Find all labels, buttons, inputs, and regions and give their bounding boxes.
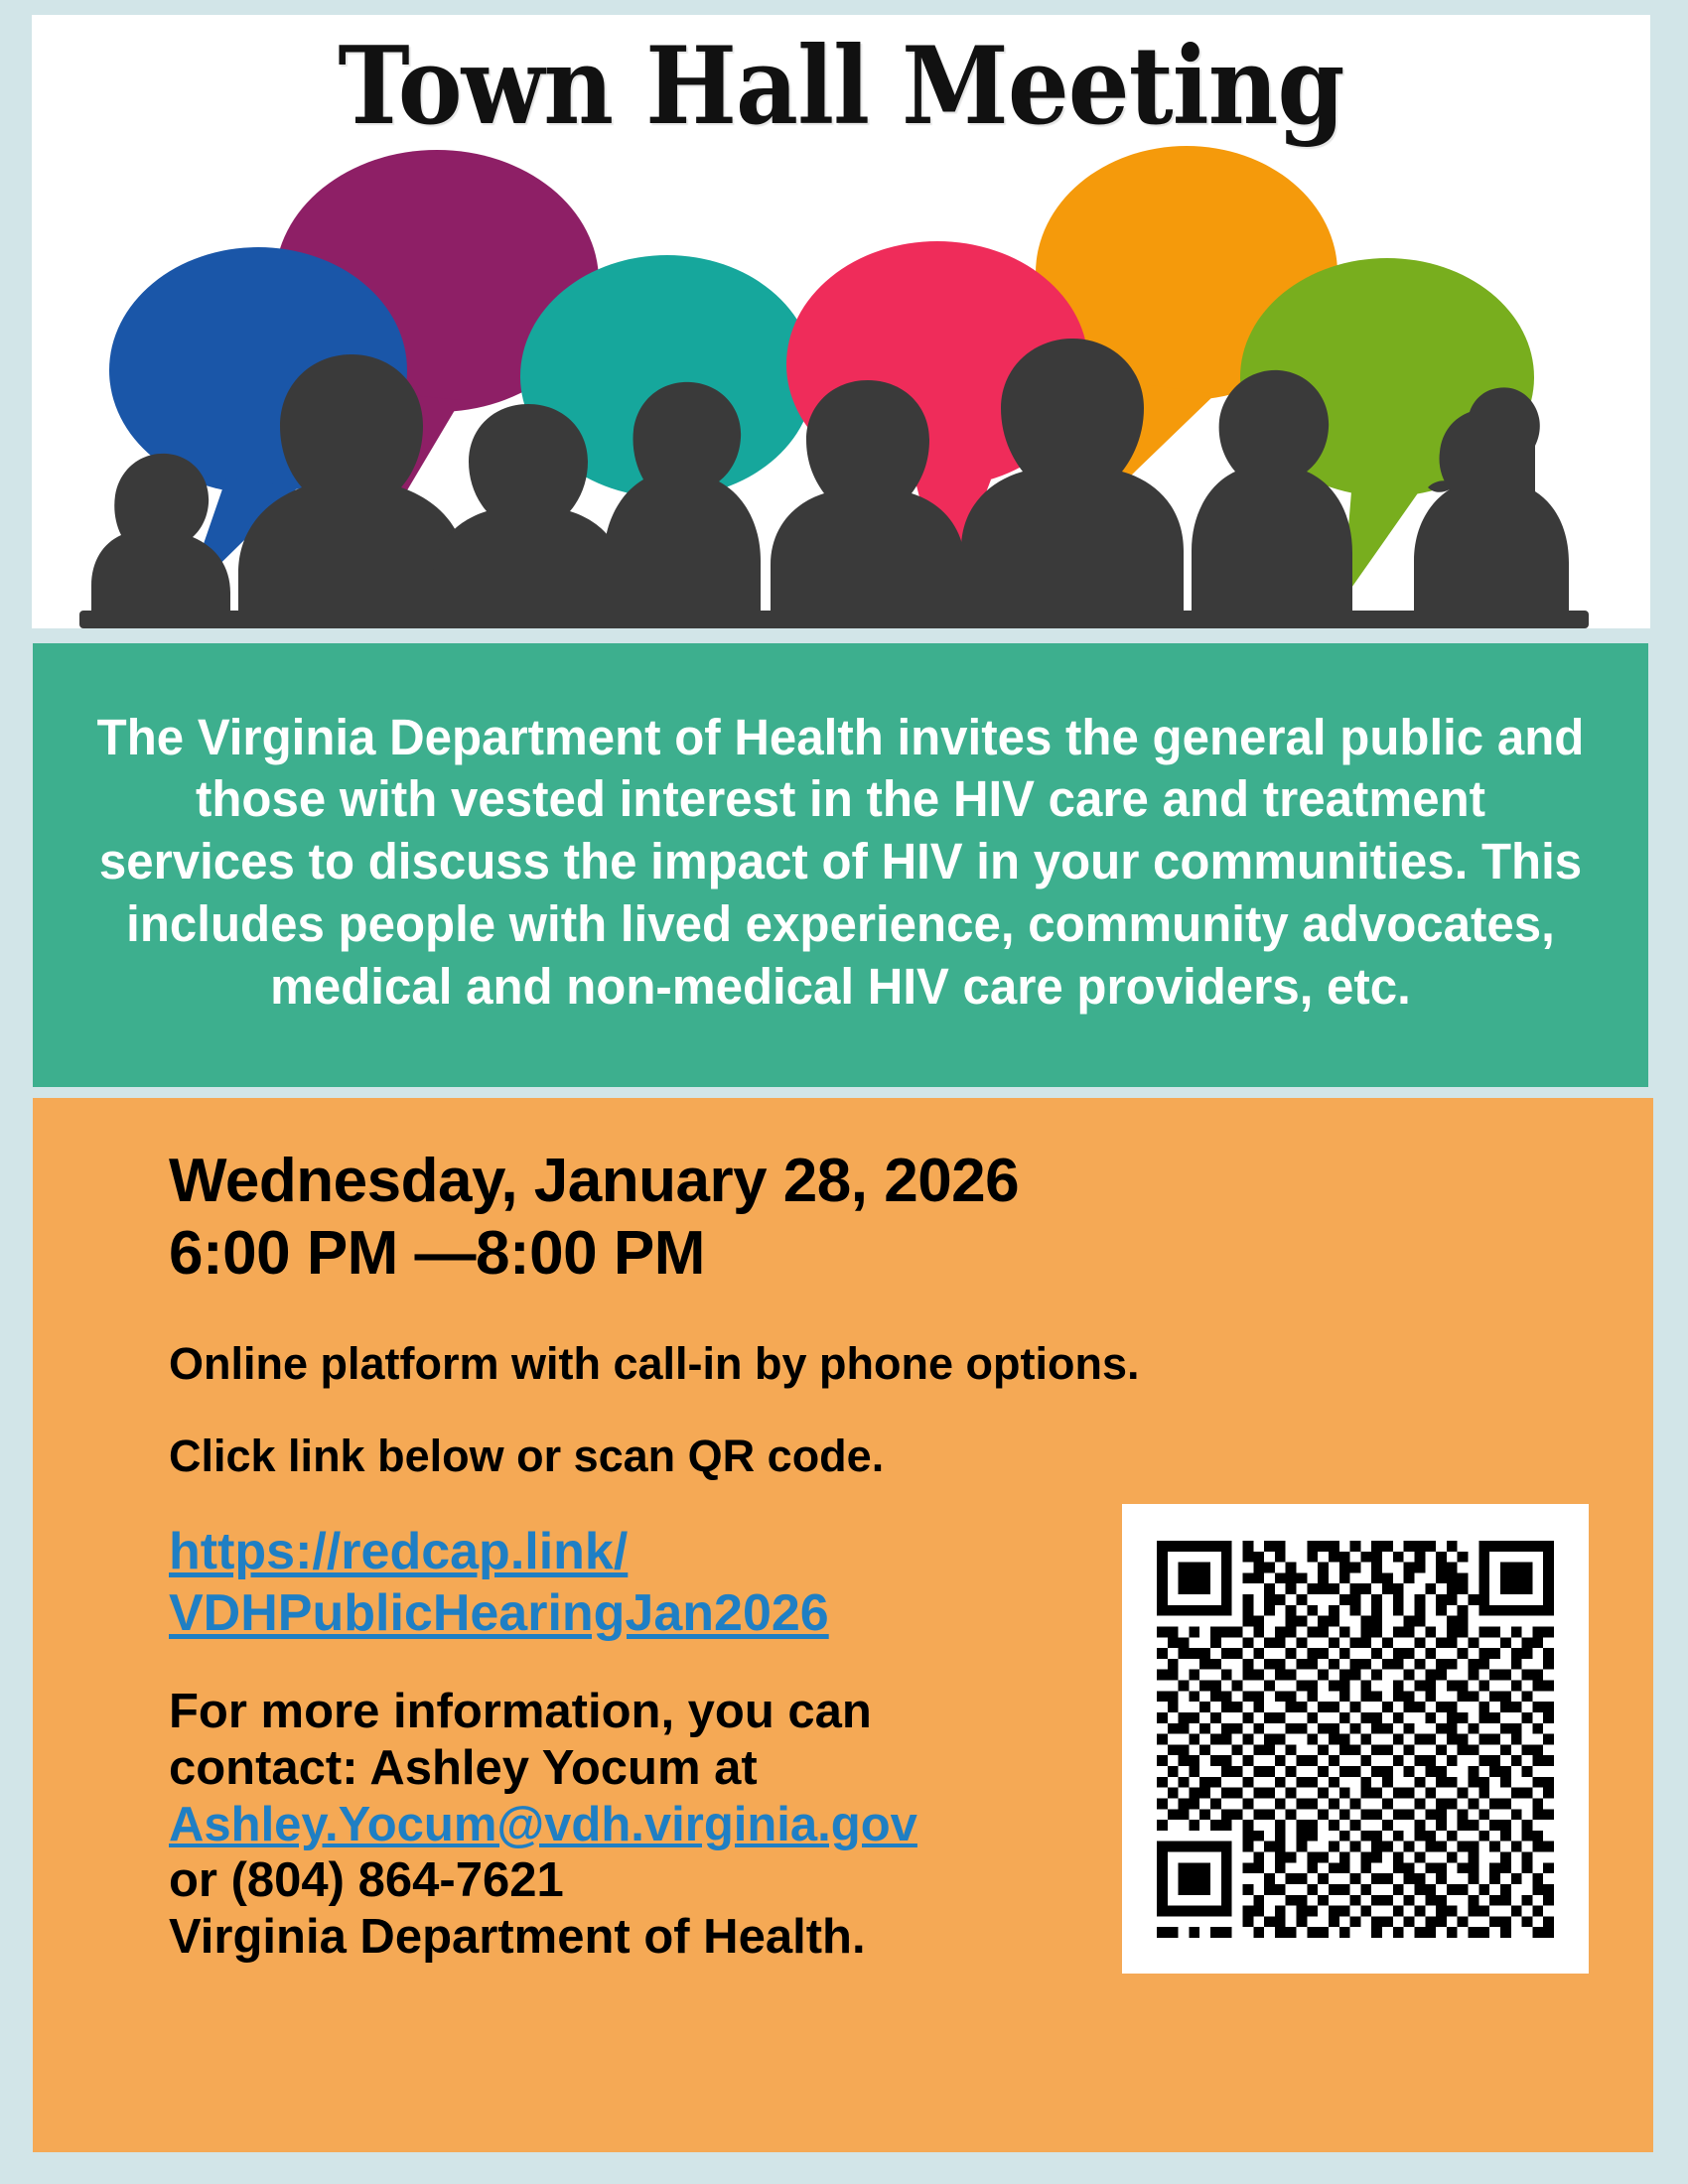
platform-note: Online platform with call-in by phone op…: [169, 1337, 1162, 1390]
contact-organization: Virginia Department of Health.: [169, 1909, 1162, 1966]
qr-code-container: [1122, 1504, 1589, 1974]
qr-code[interactable]: [1157, 1541, 1554, 1938]
contact-intro-line-1: For more information, you can: [169, 1684, 1162, 1740]
statement-text: The Virginia Department of Health invite…: [93, 707, 1587, 1019]
statement-panel: The Virginia Department of Health invite…: [33, 643, 1648, 1087]
spacer: [169, 1482, 1162, 1522]
page-title: Town Hall Meeting: [113, 33, 1570, 140]
ground-bar: [79, 611, 1589, 628]
contact-phone: or (804) 864-7621: [169, 1852, 1162, 1909]
spacer: [169, 1290, 1162, 1337]
registration-link-line-2[interactable]: VDHPublicHearingJan2026: [169, 1583, 829, 1644]
spacer: [169, 1390, 1162, 1430]
event-time: 6:00 PM —8:00 PM: [169, 1218, 1162, 1291]
details-text-block: Wednesday, January 28, 2026 6:00 PM —8:0…: [169, 1146, 1162, 1966]
hero-panel: Town Hall Meeting: [32, 15, 1650, 628]
details-panel: Wednesday, January 28, 2026 6:00 PM —8:0…: [33, 1098, 1653, 2152]
spacer: [169, 1644, 1162, 1684]
crowd-silhouettes-with-speech-bubbles-illustration: [32, 134, 1650, 628]
contact-intro-line-2: contact: Ashley Yocum at: [169, 1740, 1162, 1797]
flyer-page: Town Hall Meeting: [0, 0, 1688, 2184]
registration-link-line-1[interactable]: https://redcap.link/: [169, 1522, 628, 1582]
qr-instruction: Click link below or scan QR code.: [169, 1430, 1162, 1482]
event-date: Wednesday, January 28, 2026: [169, 1146, 1162, 1218]
contact-email-link[interactable]: Ashley.Yocum@vdh.virginia.gov: [169, 1797, 917, 1853]
